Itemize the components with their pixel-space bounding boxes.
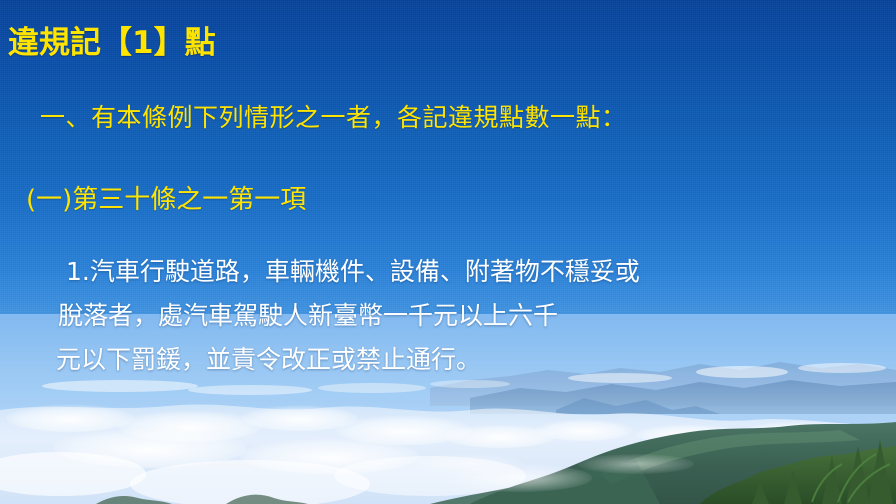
clause-body-line-3: 元以下罰鍰，並責令改正或禁止通行。 — [56, 338, 866, 382]
clause-body-text: 1.汽車行駛道路，車輛機件、設備、附著物不穩妥或 脫落者，處汽車駕駛人新臺幣一千… — [66, 250, 866, 382]
clause-body-line-2: 脫落者，處汽車駕駛人新臺幣一千元以上六千 — [58, 294, 866, 338]
clause-heading-line: 一、有本條例下列情形之一者，各記違規點數一點： — [40, 98, 627, 134]
presentation-slide: 違規記【1】點 一、有本條例下列情形之一者，各記違規點數一點： (一)第三十條之… — [0, 0, 896, 504]
clause-subheading-line: (一)第三十條之一第一項 — [26, 179, 306, 216]
clause-body-line-1: 1.汽車行駛道路，車輛機件、設備、附著物不穩妥或 — [66, 250, 866, 294]
page-title: 違規記【1】點 — [8, 17, 216, 62]
